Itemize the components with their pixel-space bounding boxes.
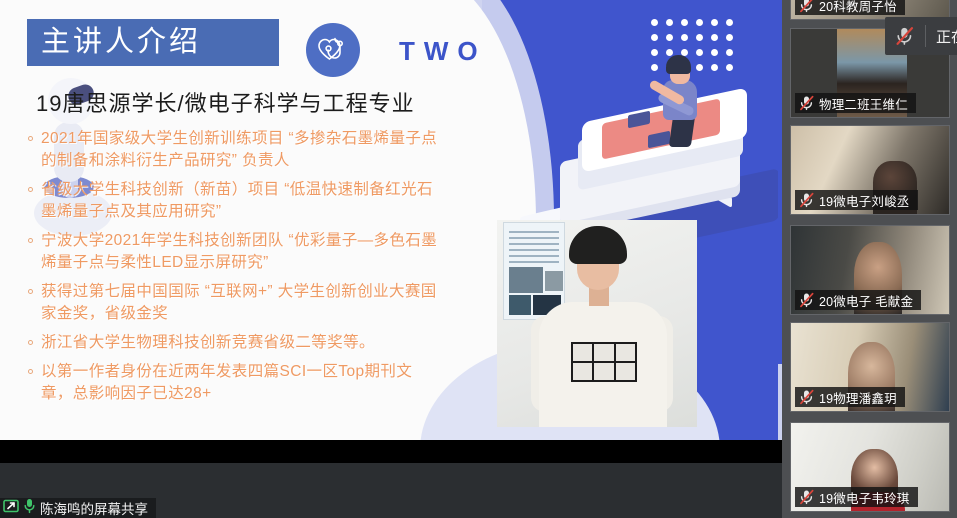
presentation-slide: 主讲人介绍 TWO 19唐思源学长/微电子科学与工程专业 2021年国家级大学生… — [0, 0, 782, 440]
letterbox-band — [0, 440, 782, 463]
microphone-off-icon — [799, 292, 815, 308]
participant-video-strip[interactable]: 20科教周子怡 物理二班王维仁 — [782, 0, 957, 518]
participant-nameplate: 20微电子 毛献金 — [795, 290, 921, 310]
slide-subtitle: 19唐思源学长/微电子科学与工程专业 — [36, 86, 415, 118]
bullet-item: 2021年国家级大学生创新训练项目 “多掺杂石墨烯量子点的制备和涂料衍生产品研究… — [24, 128, 444, 172]
speaking-toast: 正在讲话 — [885, 17, 957, 55]
microphone-off-icon — [799, 489, 815, 505]
participant-tile[interactable]: 19微电子韦玲琪 — [790, 422, 950, 512]
participant-tile[interactable]: 20微电子 毛献金 — [790, 225, 950, 315]
toast-divider — [925, 25, 926, 47]
bullet-item: 获得过第七届中国国际 “互联网+” 大学生创新创业大赛国家金奖，省级金奖 — [24, 281, 444, 325]
participant-tile[interactable]: 19物理潘鑫玥 — [790, 322, 950, 412]
participant-nameplate: 19物理潘鑫玥 — [795, 387, 905, 407]
microphone-off-icon — [799, 0, 815, 13]
screen-share-owner-label: 陈海鸣的屏幕共享 — [40, 498, 148, 518]
bullet-marker-icon — [28, 289, 33, 294]
bullet-marker-icon — [28, 340, 33, 345]
participant-name: 20科教周子怡 — [819, 0, 897, 15]
participant-nameplate: 20科教周子怡 — [795, 0, 905, 15]
heart-stethoscope-icon — [306, 23, 360, 77]
participant-name: 19物理潘鑫玥 — [819, 388, 897, 407]
participant-nameplate: 19微电子刘峻丞 — [795, 190, 918, 210]
microphone-off-icon — [895, 26, 915, 46]
participant-name: 物理二班王维仁 — [819, 94, 908, 113]
speaker-portrait-photo — [497, 220, 697, 427]
participant-nameplate: 物理二班王维仁 — [795, 93, 916, 113]
participant-tile[interactable]: 19微电子刘峻丞 — [790, 125, 950, 215]
speaking-status-text: 正在讲话 — [936, 26, 957, 47]
participant-name: 19微电子刘峻丞 — [819, 191, 910, 210]
participant-nameplate: 19微电子韦玲琪 — [795, 487, 918, 507]
participant-name: 19微电子韦玲琪 — [819, 488, 910, 507]
participant-name: 20微电子 毛献金 — [819, 291, 913, 310]
bullet-marker-icon — [28, 238, 33, 243]
microphone-off-icon — [799, 389, 815, 405]
brand-wordmark: TWO — [399, 36, 487, 67]
bullet-marker-icon — [28, 187, 33, 192]
slide-title-banner: 主讲人介绍 — [27, 19, 279, 66]
microphone-off-icon — [799, 192, 815, 208]
microphone-on-icon — [23, 498, 36, 518]
bullet-item: 省级大学生科技创新（新苗）项目 “低温快速制备红光石墨烯量子点及其应用研究” — [24, 179, 444, 223]
zoom-meeting-window: 主讲人介绍 TWO 19唐思源学长/微电子科学与工程专业 2021年国家级大学生… — [0, 0, 957, 518]
printer-person-illustration — [540, 55, 782, 245]
screen-share-icon — [3, 499, 19, 518]
bullet-item: 宁波大学2021年学生科技创新团队 “优彩量子—多色石墨烯量子点与柔性LED显示… — [24, 230, 444, 274]
microphone-off-icon — [799, 95, 815, 111]
slide-title: 主讲人介绍 — [41, 28, 201, 57]
screen-share-status: 陈海鸣的屏幕共享 — [0, 498, 156, 518]
bullet-marker-icon — [28, 136, 33, 141]
bullet-item: 以第一作者身份在近两年发表四篇SCI一区Top期刊文章，总影响因子已达28+ — [24, 361, 444, 405]
bullet-marker-icon — [28, 369, 33, 374]
person-figure-icon — [657, 55, 713, 161]
bullet-item: 浙江省大学生物理科技创新竞赛省级二等奖等。 — [24, 332, 444, 354]
slide-bullet-list: 2021年国家级大学生创新训练项目 “多掺杂石墨烯量子点的制备和涂料衍生产品研究… — [24, 128, 444, 412]
shared-screen-area[interactable]: 主讲人介绍 TWO 19唐思源学长/微电子科学与工程专业 2021年国家级大学生… — [0, 0, 782, 518]
